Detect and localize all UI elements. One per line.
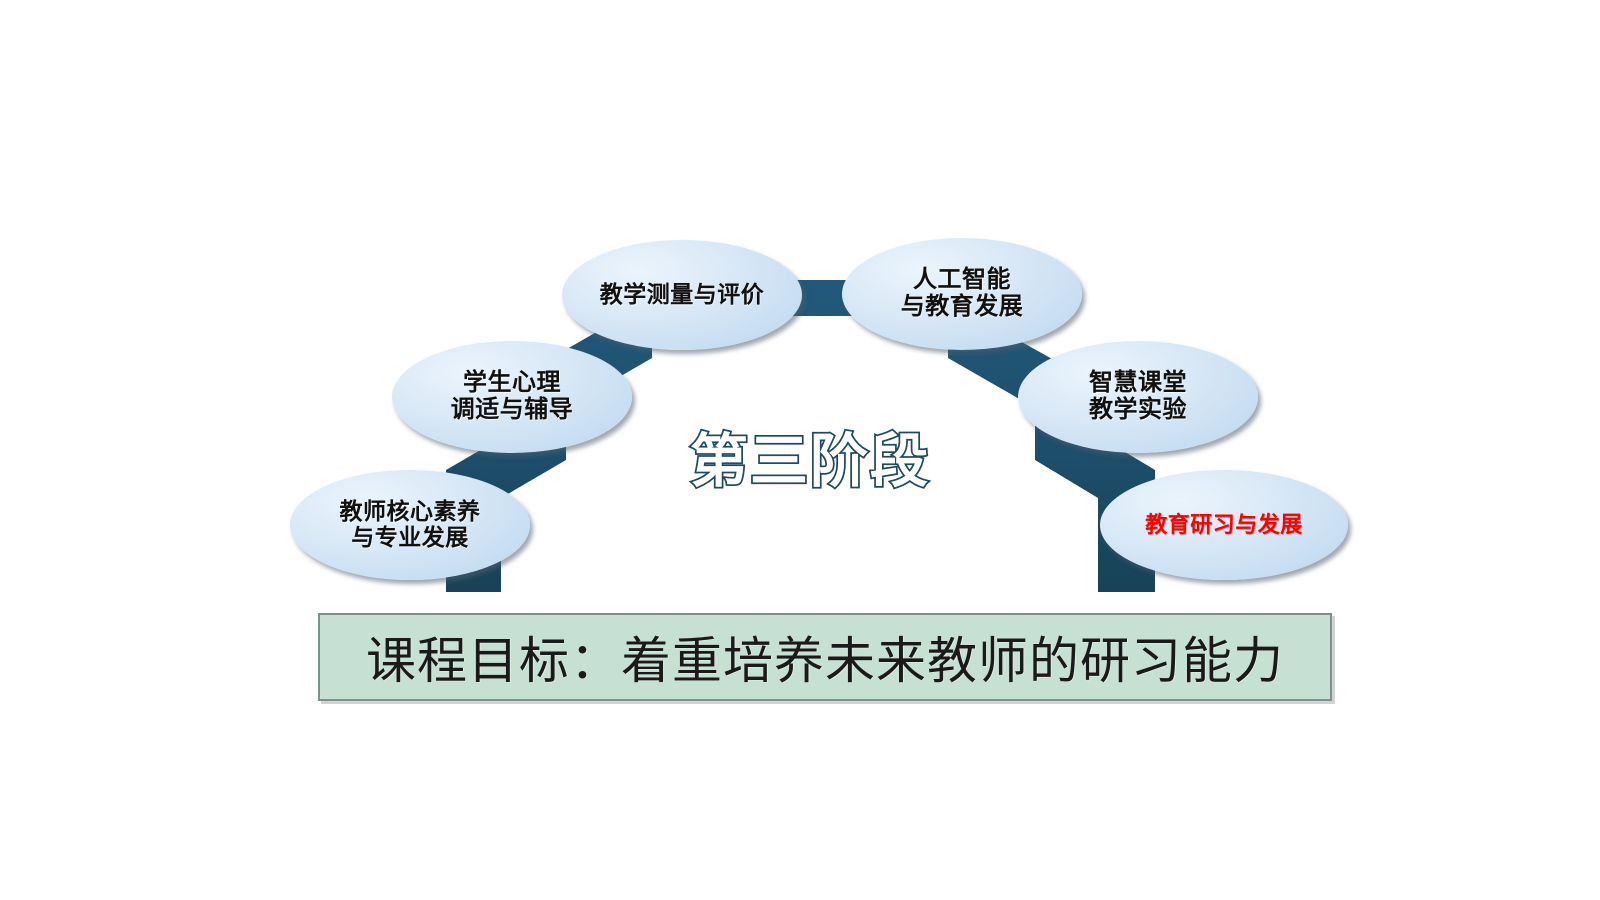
node-teaching-measurement-evaluation[interactable]: 教学测量与评价 [562, 240, 802, 350]
node-label-highlighted: 教育研习与发展 [1145, 513, 1303, 538]
course-objective-banner: 课程目标：着重培养未来教师的研习能力 [318, 613, 1332, 701]
course-objective-text: 课程目标：着重培养未来教师的研习能力 [366, 621, 1284, 693]
node-student-psychology[interactable]: 学生心理 调适与辅导 [392, 341, 632, 453]
node-label: 人工智能 与教育发展 [901, 267, 1024, 321]
node-education-practicum-development[interactable]: 教育研习与发展 [1100, 470, 1348, 580]
node-label: 教师核心素养 与专业发展 [340, 499, 481, 551]
node-teacher-core-competency[interactable]: 教师核心素养 与专业发展 [290, 470, 530, 580]
node-label: 学生心理 调适与辅导 [451, 370, 574, 424]
node-label: 智慧课堂 教学实验 [1089, 370, 1187, 424]
node-smart-classroom-experiment[interactable]: 智慧课堂 教学实验 [1018, 341, 1258, 453]
stage-title: 第三阶段 [660, 424, 960, 500]
slide-canvas: 教师核心素养 与专业发展 学生心理 调适与辅导 教学测量与评价 人工智能 与教育… [0, 0, 1600, 900]
node-label: 教学测量与评价 [600, 282, 765, 308]
stage-title-text: 第三阶段 [690, 433, 930, 491]
node-ai-and-education[interactable]: 人工智能 与教育发展 [842, 238, 1082, 350]
